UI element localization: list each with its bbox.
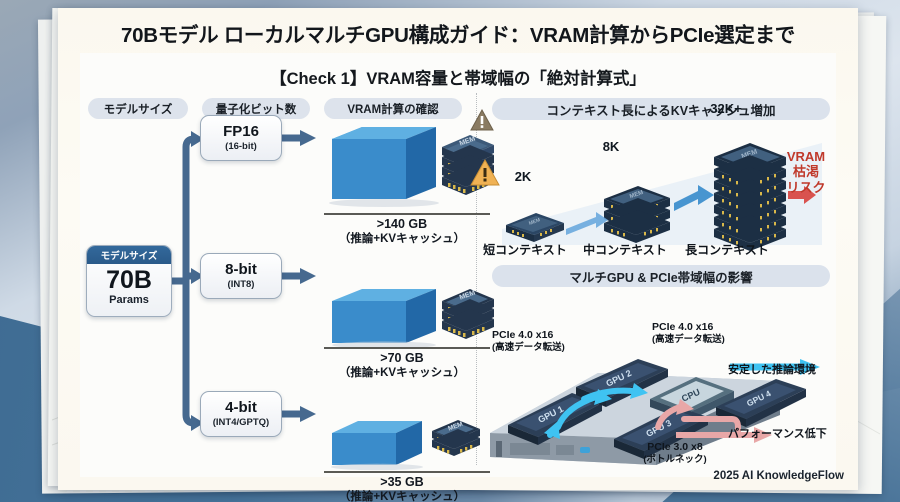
quant-sub: (INT8) [228,279,255,290]
quant-box-4bit: 4-bit (INT4/GPTQ) [200,391,282,437]
context-size-2k: 2K [492,169,554,184]
footer-credit: 2025 AI KnowledgeFlow [713,470,844,482]
vram-bar-8bit: MEM [324,249,494,354]
panel-header-gpu: マルチGPU & PCIe帯域幅の影響 [492,265,830,287]
vram-amount: >70 GB [380,351,423,365]
column-header-model-size: モデルサイズ [88,98,188,119]
model-size-value: 70B [87,268,171,293]
context-size-32k: 32K+ [691,101,761,116]
warning-triangle-gray-icon [470,109,494,131]
vram-bar-fp16: MEM [324,111,494,221]
stable-inference-label: 安定した推論環境 [728,361,816,377]
context-size-8k: 8K [580,139,642,154]
vram-caption-fp16: >140 GB （推論+KVキャッシュ） [322,217,482,246]
vram-note: （推論+KVキャッシュ） [322,230,482,246]
context-label-medium: 中コンテキスト [580,241,670,258]
main-card: 70Bモデル ローカルマルチGPU構成ガイド：VRAM計算からPCIe選定まで … [58,8,858,490]
page-title: 70Bモデル ローカルマルチGPU構成ガイド：VRAM計算からPCIe選定まで [58,18,858,48]
pcie-label-right-main: PCIe 4.0 x16 [652,321,713,333]
quant-box-8bit: 8-bit (INT8) [200,253,282,299]
quant-sub: (16-bit) [225,141,257,152]
vram-baseline [324,471,490,473]
quant-sub: (INT4/GPTQ) [213,417,269,428]
vram-bar-4bit: MEM [324,387,494,479]
pcie-label-left-sub: (高速データ転送) [492,342,612,354]
vram-amount: >35 GB [380,475,423,489]
vram-row-4bit: MEM >35 GB （推論+KVキャッシュ） [324,387,494,484]
vram-caption-4bit: >35 GB （推論+KVキャッシュ） [322,475,482,502]
pcie-label-right-sub: (高速データ転送) [652,334,778,346]
model-size-box-header: モデルサイズ [87,246,171,264]
vram-baseline [324,213,490,215]
panel-header-context: コンテキスト長によるKVキャッシュ増加 [492,98,830,120]
vram-amount: >140 GB [377,217,427,231]
model-size-box: モデルサイズ 70B Params [86,245,172,317]
context-label-short: 短コンテキスト [480,241,570,258]
pcie-label-right: PCIe 4.0 x16 (高速データ転送) [652,321,778,345]
vram-caption-8bit: >70 GB （推論+KVキャッシュ） [322,351,482,380]
pcie-label-left-main: PCIe 4.0 x16 [492,329,553,341]
section-subtitle: 【Check 1】VRAM容量と帯域幅の「絶対計算式」 [80,65,836,89]
vram-note: （推論+KVキャッシュ） [322,364,482,380]
quant-name: FP16 [223,124,259,140]
quant-name: 4-bit [225,400,257,416]
risk-line-1: VRAM [787,149,825,164]
risk-line-2: 枯渇 [793,164,819,179]
pcie-label-bottleneck-main: PCIe 3.0 x8 [647,441,702,453]
context-label-long: 長コンテキスト [682,241,772,258]
slide-canvas: 70Bモデル ローカルマルチGPU構成ガイド：VRAM計算からPCIe選定まで … [0,0,900,502]
vram-row-8bit: MEM >70 GB （推論+KVキャッシュ） [324,249,494,359]
quant-box-fp16: FP16 (16-bit) [200,115,282,161]
pcie-label-left: PCIe 4.0 x16 (高速データ転送) [492,329,612,353]
vram-baseline [324,347,490,349]
risk-line-3: リスク [786,180,825,195]
model-size-unit: Params [87,294,171,306]
vram-note: （推論+KVキャッシュ） [322,488,482,502]
vram-row-fp16: MEM >140 GB （推論+KVキャッシュ） [324,111,494,226]
pcie-label-bottleneck-sub: (ボトルネック) [620,454,730,466]
quant-name: 8-bit [225,262,257,278]
pcie-label-bottleneck: PCIe 3.0 x8 (ボトルネック) [620,441,730,465]
performance-degradation-label: パフォーマンス低下 [728,425,827,441]
vram-exhaustion-risk-text: VRAM 枯渇 リスク [780,149,832,195]
content-panel: 【Check 1】VRAM容量と帯域幅の「絶対計算式」 モデルサイズ 量子化ビッ… [80,53,836,477]
